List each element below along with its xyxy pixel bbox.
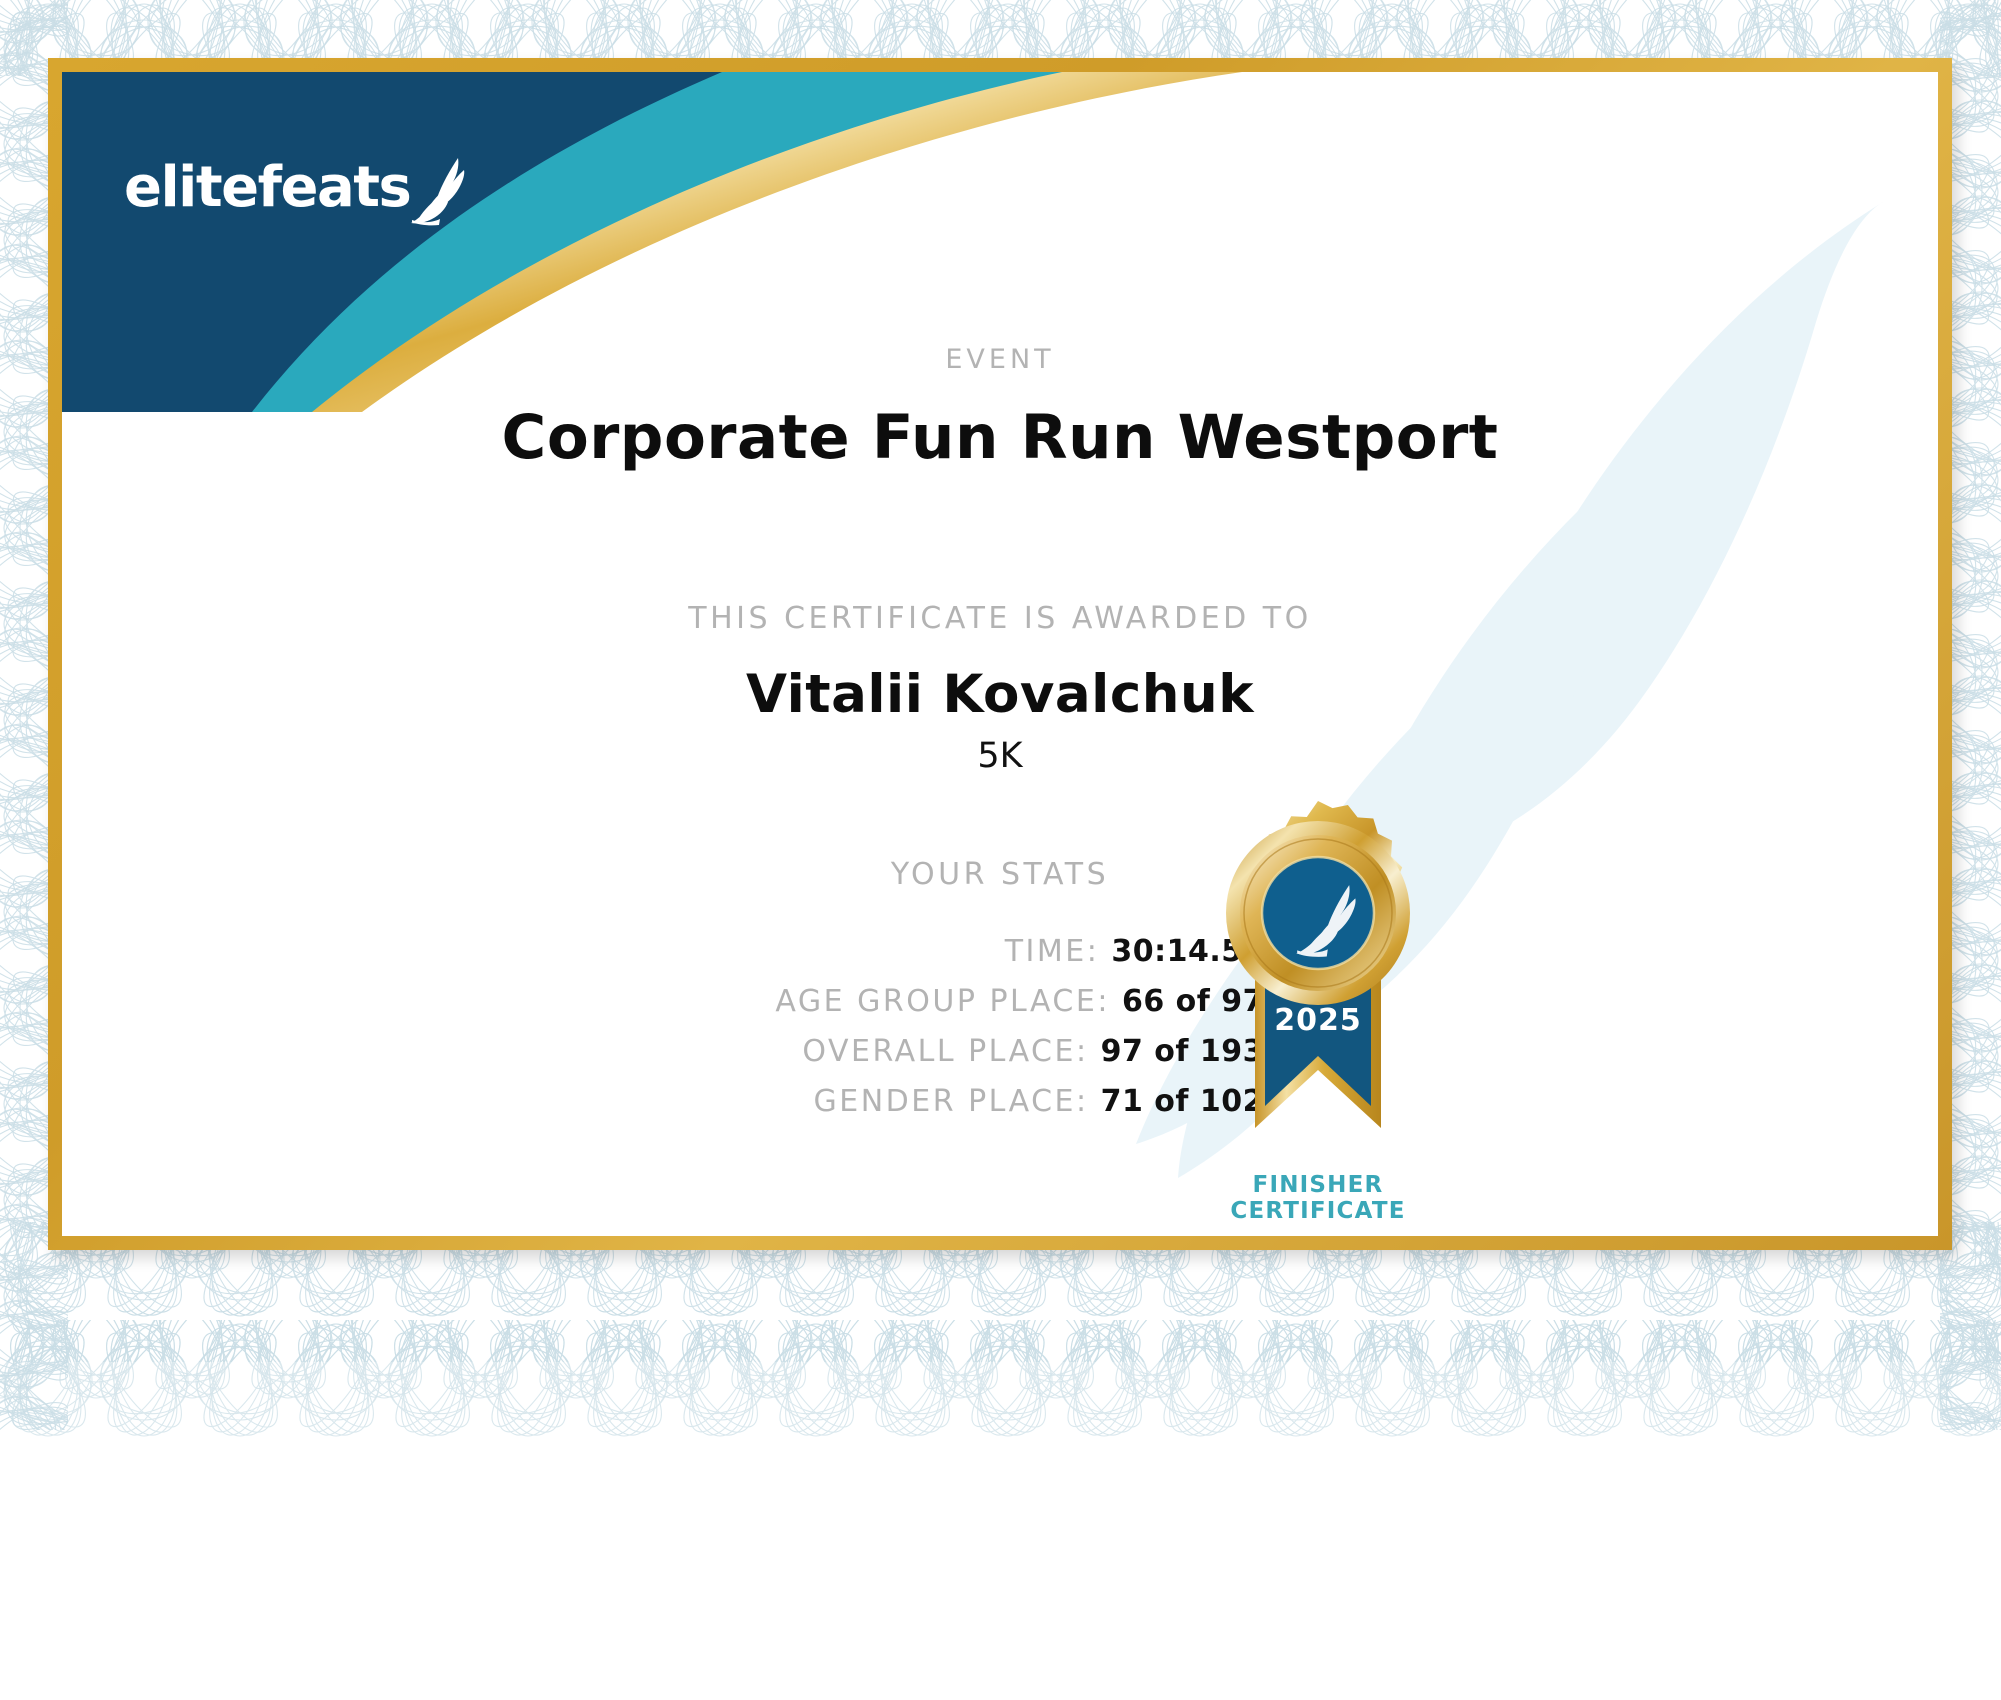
stat-key: AGE GROUP PLACE: bbox=[775, 984, 1110, 1019]
stat-row: TIME: 30:14.59 bbox=[62, 934, 1264, 969]
stat-key: TIME: bbox=[1005, 934, 1100, 969]
badge-caption-line1: FINISHER bbox=[1203, 1172, 1433, 1198]
awarded-to-label: THIS CERTIFICATE IS AWARDED TO bbox=[62, 601, 1938, 636]
race-distance: 5K bbox=[62, 736, 1938, 776]
logo-wordmark: elitefeats bbox=[124, 160, 410, 216]
stat-row: OVERALL PLACE: 97 of 193 bbox=[62, 1034, 1264, 1069]
event-label: EVENT bbox=[62, 344, 1938, 375]
stat-key: GENDER PLACE: bbox=[814, 1084, 1089, 1119]
medal-rosette-icon: 2025 bbox=[1203, 798, 1433, 1168]
event-title: Corporate Fun Run Westport bbox=[62, 402, 1938, 473]
stats-list: TIME: 30:14.59 AGE GROUP PLACE: 66 of 97… bbox=[62, 934, 1264, 1119]
your-stats-label: YOUR STATS bbox=[62, 857, 1938, 892]
stat-row: AGE GROUP PLACE: 66 of 97 bbox=[62, 984, 1264, 1019]
badge-year: 2025 bbox=[1274, 1003, 1362, 1038]
stat-key: OVERALL PLACE: bbox=[802, 1034, 1088, 1069]
gold-border-frame: elitefeats EVENT Corporate Fun Run Westp… bbox=[48, 58, 1952, 1250]
recipient-name: Vitalii Kovalchuk bbox=[62, 664, 1938, 725]
badge-caption-line2: CERTIFICATE bbox=[1203, 1198, 1433, 1224]
finisher-medal-badge: 2025 bbox=[1203, 798, 1433, 1224]
stat-row: GENDER PLACE: 71 of 102 bbox=[62, 1084, 1264, 1119]
badge-caption: FINISHER CERTIFICATE bbox=[1203, 1172, 1433, 1224]
certificate-page: elitefeats EVENT Corporate Fun Run Westp… bbox=[0, 0, 2001, 1700]
certificate-card: elitefeats EVENT Corporate Fun Run Westp… bbox=[62, 72, 1938, 1236]
winged-foot-icon bbox=[406, 156, 474, 226]
elitefeats-logo: elitefeats bbox=[124, 150, 474, 226]
